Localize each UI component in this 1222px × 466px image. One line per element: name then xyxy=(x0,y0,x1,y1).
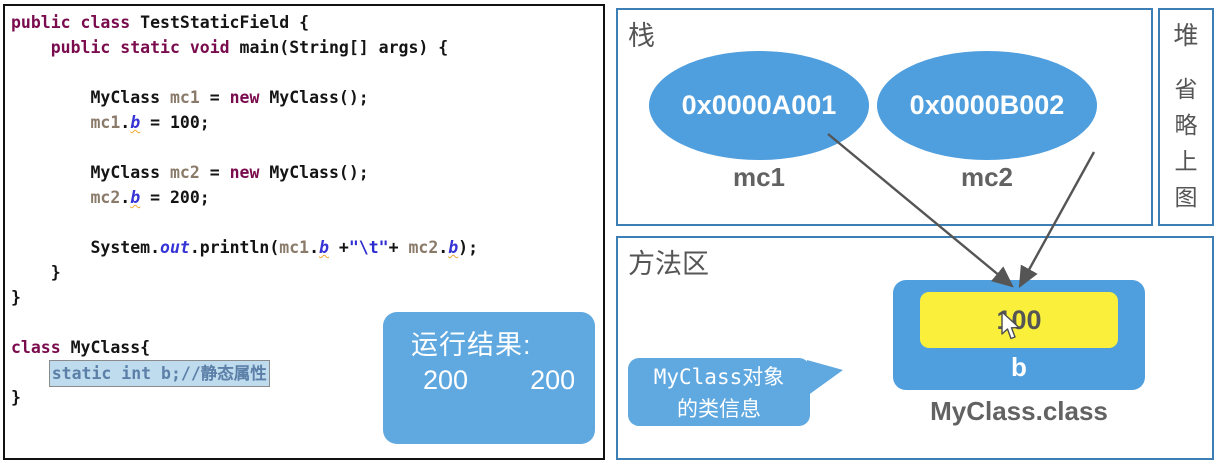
assign-2: = xyxy=(150,113,160,132)
callout-line-2: 的类信息 xyxy=(628,393,810,425)
ctor-parens-2: (); xyxy=(339,163,369,182)
dot-3: . xyxy=(150,238,160,257)
callout-tail-icon xyxy=(807,360,843,396)
dot-4: . xyxy=(190,238,200,257)
var-mc2-ref: mc2 xyxy=(90,188,120,207)
field-b-2: b xyxy=(130,188,140,207)
code-line-6-blank xyxy=(11,135,601,160)
kw-new-2: new xyxy=(230,163,260,182)
plus-2: + xyxy=(389,238,399,257)
code-line-1: public class TestStaticField { xyxy=(11,10,601,35)
stack-ref-address-mc1: 0x0000A001 xyxy=(682,90,837,121)
param-type: String[] xyxy=(289,38,368,57)
code-line-7: MyClass mc2 = new MyClass(); xyxy=(11,160,601,185)
method-main: main xyxy=(240,38,280,57)
code-line-5: mc1.b = 100; xyxy=(11,110,601,135)
highlighted-field-declaration[interactable]: static int b;//静态属性 xyxy=(49,360,270,387)
code-line-10: System.out.println(mc1.b +"\t"+ mc2.b); xyxy=(11,235,601,260)
heap-note-char-3: 上 xyxy=(1160,144,1212,180)
kw-static: static xyxy=(120,38,180,57)
brace-close-method: } xyxy=(51,263,61,282)
code-line-8: mc2.b = 200; xyxy=(11,185,601,210)
stack-ref-ellipse-mc1: 0x0000A001 xyxy=(649,51,869,160)
println-call: println xyxy=(200,238,270,257)
stack-var-label-mc2: mc2 xyxy=(877,162,1097,193)
stack-panel: 栈 0x0000A001 mc1 0x0000B002 mc2 xyxy=(616,8,1153,226)
paren-close: ) { xyxy=(418,38,448,57)
screenshot-root: public class TestStaticField { public st… xyxy=(0,0,1222,466)
brace-open-2: { xyxy=(140,338,150,357)
heap-title: 堆 xyxy=(1160,16,1212,52)
var-mc1: mc1 xyxy=(170,88,200,107)
code-panel: public class TestStaticField { public st… xyxy=(3,4,605,460)
ctor-myclass: MyClass xyxy=(269,88,339,107)
mouse-pointer-icon xyxy=(1000,311,1022,341)
heap-note-char-2: 略 xyxy=(1160,108,1212,144)
sys-class: System xyxy=(90,238,150,257)
kw-void: void xyxy=(190,38,230,57)
myclass-decl: MyClass xyxy=(71,338,141,357)
field-b-3: b xyxy=(319,238,329,257)
kw-public: public xyxy=(11,13,71,32)
dot-6: . xyxy=(438,238,448,257)
plus-1: + xyxy=(339,238,349,257)
var-mc1-print: mc1 xyxy=(279,238,309,257)
stack-ref-address-mc2: 0x0000B002 xyxy=(910,90,1065,121)
stack-var-label-mc1: mc1 xyxy=(649,162,869,193)
method-area-panel: 方法区 100 b MyClass.class MyClass对象 的类信息 xyxy=(616,236,1214,460)
result-value-1: 200 xyxy=(423,362,468,398)
code-line-9-blank xyxy=(11,210,601,235)
semi-2: ; xyxy=(200,188,210,207)
type-myclass: MyClass xyxy=(90,88,160,107)
heap-note: 省 略 上 图 xyxy=(1160,72,1212,216)
static-field-name: b xyxy=(893,352,1145,383)
sys-out: out xyxy=(160,238,190,257)
assign-4: = xyxy=(150,188,160,207)
semi-1: ; xyxy=(200,113,210,132)
kw-public-2: public xyxy=(51,38,111,57)
heap-note-char-4: 图 xyxy=(1160,180,1212,216)
dot-2: . xyxy=(120,188,130,207)
literal-200: 200 xyxy=(170,188,200,207)
dot-5: . xyxy=(309,238,319,257)
code-line-12: } xyxy=(11,285,601,310)
type-myclass-2: MyClass xyxy=(90,163,160,182)
heap-panel: 堆 省 略 上 图 xyxy=(1158,8,1214,226)
field-b-1: b xyxy=(130,113,140,132)
result-value-2: 200 xyxy=(530,362,575,398)
class-info-callout: MyClass对象 的类信息 xyxy=(628,358,810,426)
assign-3: = xyxy=(210,163,220,182)
var-mc2-print: mc2 xyxy=(408,238,438,257)
result-title: 运行结果: xyxy=(383,328,595,362)
code-line-4: MyClass mc1 = new MyClass(); xyxy=(11,85,601,110)
stack-title: 栈 xyxy=(628,14,655,53)
brace-close-class: } xyxy=(11,288,21,307)
brace-open: { xyxy=(299,13,309,32)
class-name: TestStaticField xyxy=(140,13,289,32)
var-mc2: mc2 xyxy=(170,163,200,182)
callout-line-1: MyClass对象 xyxy=(628,361,810,393)
code-line-2: public static void main(String[] args) { xyxy=(11,35,601,60)
kw-class-2: class xyxy=(11,338,61,357)
ctor-parens: (); xyxy=(339,88,369,107)
assign-1: = xyxy=(210,88,220,107)
close-stmt: ); xyxy=(458,238,478,257)
result-callout-box: 运行结果: 200200 xyxy=(383,312,595,444)
heap-note-char-1: 省 xyxy=(1160,72,1212,108)
code-line-11: } xyxy=(11,260,601,285)
brace-close-myclass: } xyxy=(11,388,21,407)
method-area-title: 方法区 xyxy=(628,242,709,281)
kw-class: class xyxy=(81,13,131,32)
stack-ref-ellipse-mc2: 0x0000B002 xyxy=(877,51,1097,160)
var-mc1-ref: mc1 xyxy=(90,113,120,132)
code-line-3-blank xyxy=(11,60,601,85)
dot-1: . xyxy=(120,113,130,132)
literal-100: 100 xyxy=(170,113,200,132)
ctor-myclass-2: MyClass xyxy=(269,163,339,182)
tab-literal: "\t" xyxy=(349,238,389,257)
param-name: args xyxy=(379,38,419,57)
kw-new: new xyxy=(230,88,260,107)
paren-open: ( xyxy=(279,38,289,57)
paren-open-2: ( xyxy=(269,238,279,257)
result-values: 200200 xyxy=(383,362,595,398)
field-b-4: b xyxy=(448,238,458,257)
class-file-label: MyClass.class xyxy=(893,396,1145,427)
